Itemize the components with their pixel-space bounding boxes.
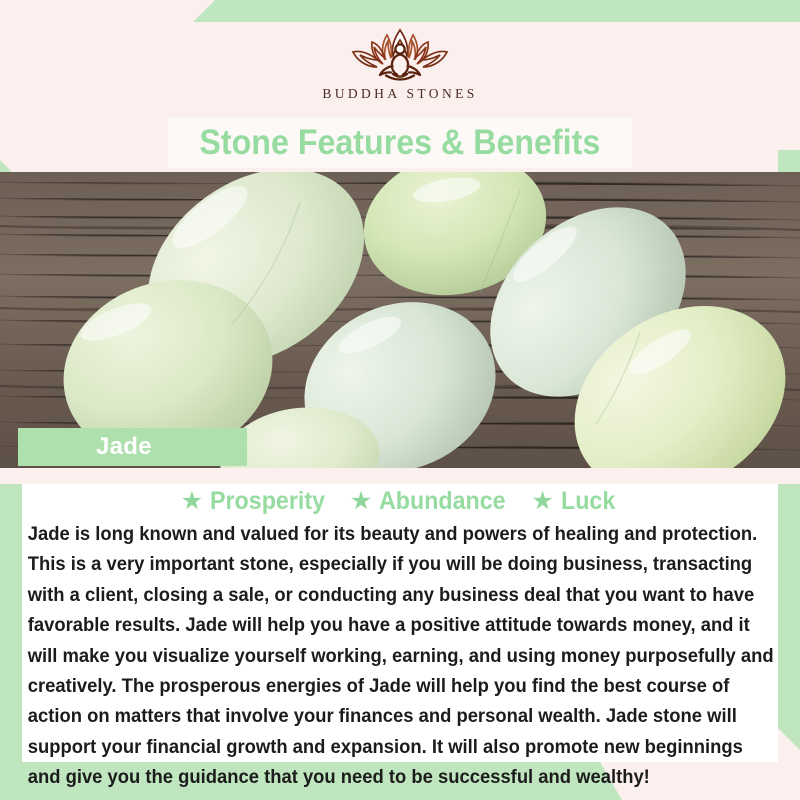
jade-stones-photo	[0, 172, 800, 468]
photo-illustration	[0, 172, 800, 468]
stone-description: Jade is long known and valued for its be…	[22, 520, 778, 794]
decorative-green-top-bar	[0, 0, 800, 22]
benefit-item: ★ Luck	[531, 487, 619, 516]
stone-info-card: BUDDHA STONES Stone Features & Benefits	[0, 0, 800, 800]
stone-name-label: Jade	[18, 433, 152, 461]
benefit-item: ★ Abundance	[350, 487, 516, 516]
star-icon: ★	[350, 489, 372, 514]
content-panel: ★ Prosperity ★ Abundance ★ Luck Jade is …	[22, 484, 778, 762]
benefit-item: ★ Prosperity	[181, 487, 334, 516]
benefit-label: Abundance	[379, 487, 506, 516]
brand-name: BUDDHA STONES	[322, 86, 477, 102]
brand-logo: BUDDHA STONES	[0, 22, 800, 116]
stone-name-banner: Jade	[18, 428, 247, 466]
benefits-row: ★ Prosperity ★ Abundance ★ Luck	[22, 484, 778, 518]
lotus-meditation-icon	[325, 22, 475, 84]
separator-band	[0, 468, 800, 484]
benefit-label: Prosperity	[210, 487, 325, 516]
page-title: Stone Features & Benefits	[200, 123, 601, 163]
benefit-label: Luck	[561, 487, 615, 516]
star-icon: ★	[531, 489, 553, 514]
star-icon: ★	[181, 489, 203, 514]
title-banner: Stone Features & Benefits	[168, 118, 632, 168]
